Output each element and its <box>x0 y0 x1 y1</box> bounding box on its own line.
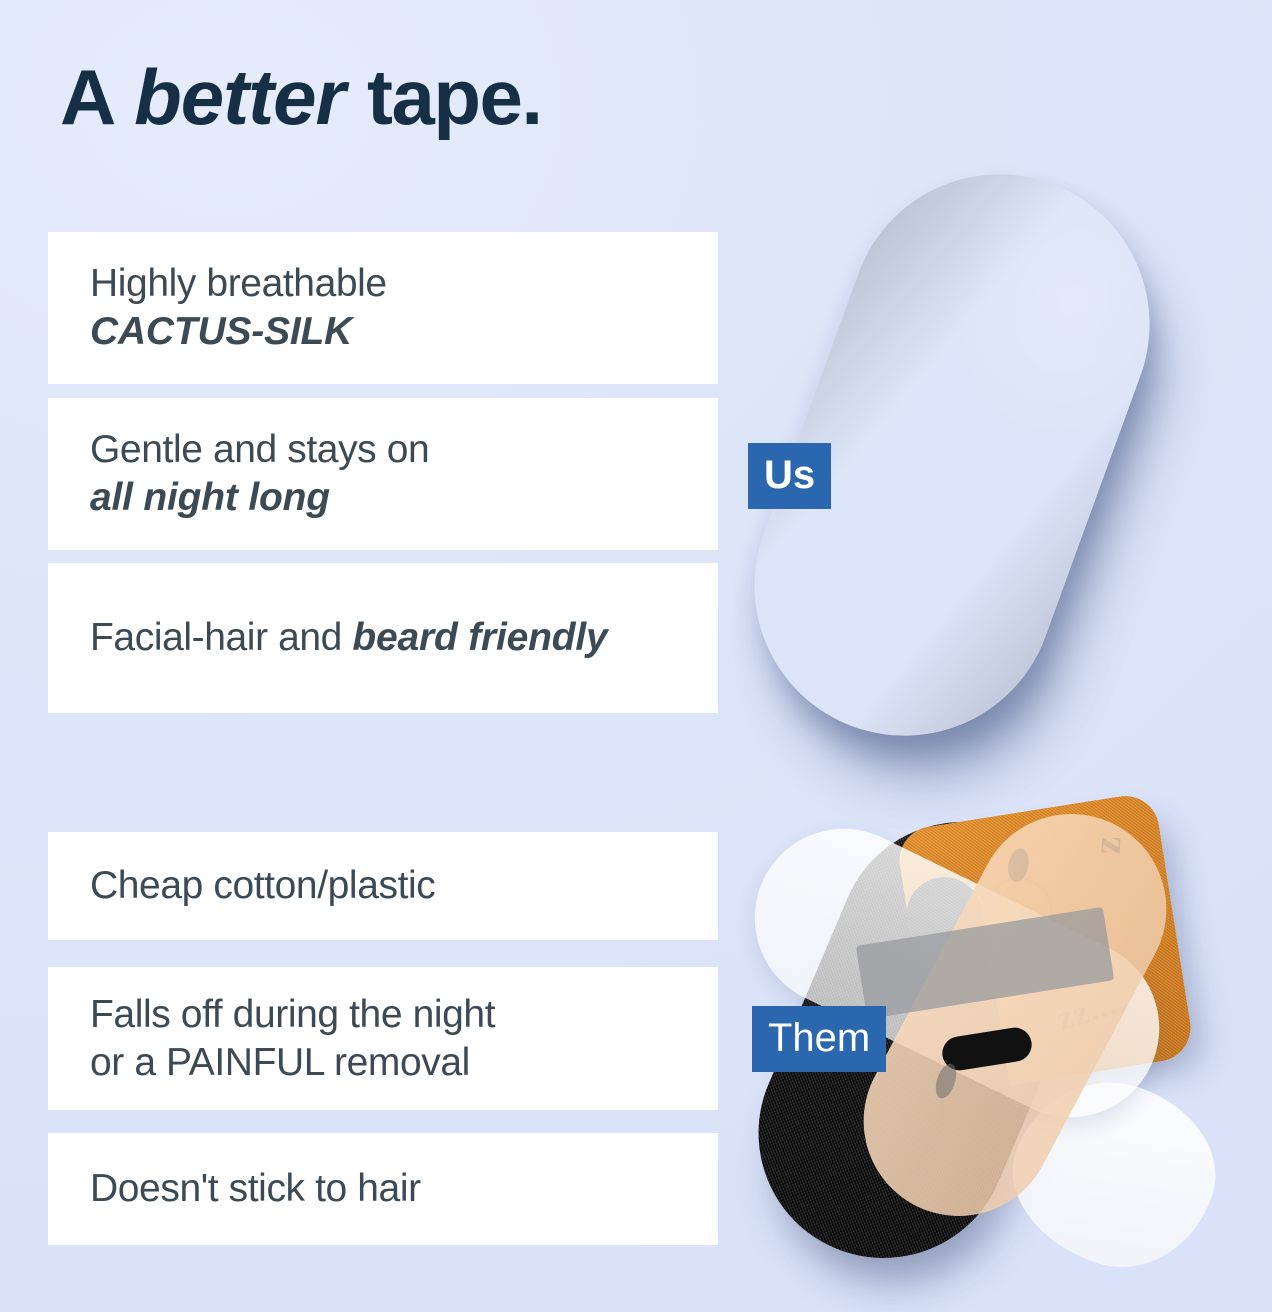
feature-line: Highly breathable <box>90 260 718 308</box>
feature-card-breathable: Highly breathable CACTUS-SILK <box>48 232 718 384</box>
drawback-card-no-hair-stick: Doesn't stick to hair <box>48 1133 718 1245</box>
drawback-card-falls-off: Falls off during the night or a PAINFUL … <box>48 967 718 1110</box>
page-title: A better tape. <box>60 58 542 136</box>
drawback-line: Doesn't stick to hair <box>90 1165 718 1213</box>
headline-part-2: tape. <box>347 53 542 141</box>
drawback-line: Falls off during the night <box>90 991 718 1039</box>
headline-part-1: A <box>60 53 132 141</box>
feature-line: Gentle and stays on <box>90 426 718 474</box>
feature-line-emphasis: CACTUS-SILK <box>90 308 718 356</box>
promo-canvas: A better tape. Highly breathable CACTUS-… <box>0 0 1272 1312</box>
status-badge-them: Them <box>752 1006 886 1072</box>
feature-text-emphasis: beard friendly <box>352 616 607 659</box>
feature-line-emphasis: all night long <box>90 474 718 522</box>
feature-text-plain: Facial-hair and <box>90 616 352 659</box>
drawback-card-cheap-material: Cheap cotton/plastic <box>48 832 718 940</box>
drawback-line: Cheap cotton/plastic <box>90 862 718 910</box>
status-badge-us: Us <box>748 443 831 509</box>
feature-card-gentle: Gentle and stays on all night long <box>48 398 718 550</box>
drawback-line: or a PAINFUL removal <box>90 1039 718 1087</box>
feature-card-beard-friendly: Facial-hair and beard friendly <box>48 563 718 713</box>
headline-emphasis: better <box>132 53 347 141</box>
feature-line: Facial-hair and beard friendly <box>90 614 718 662</box>
